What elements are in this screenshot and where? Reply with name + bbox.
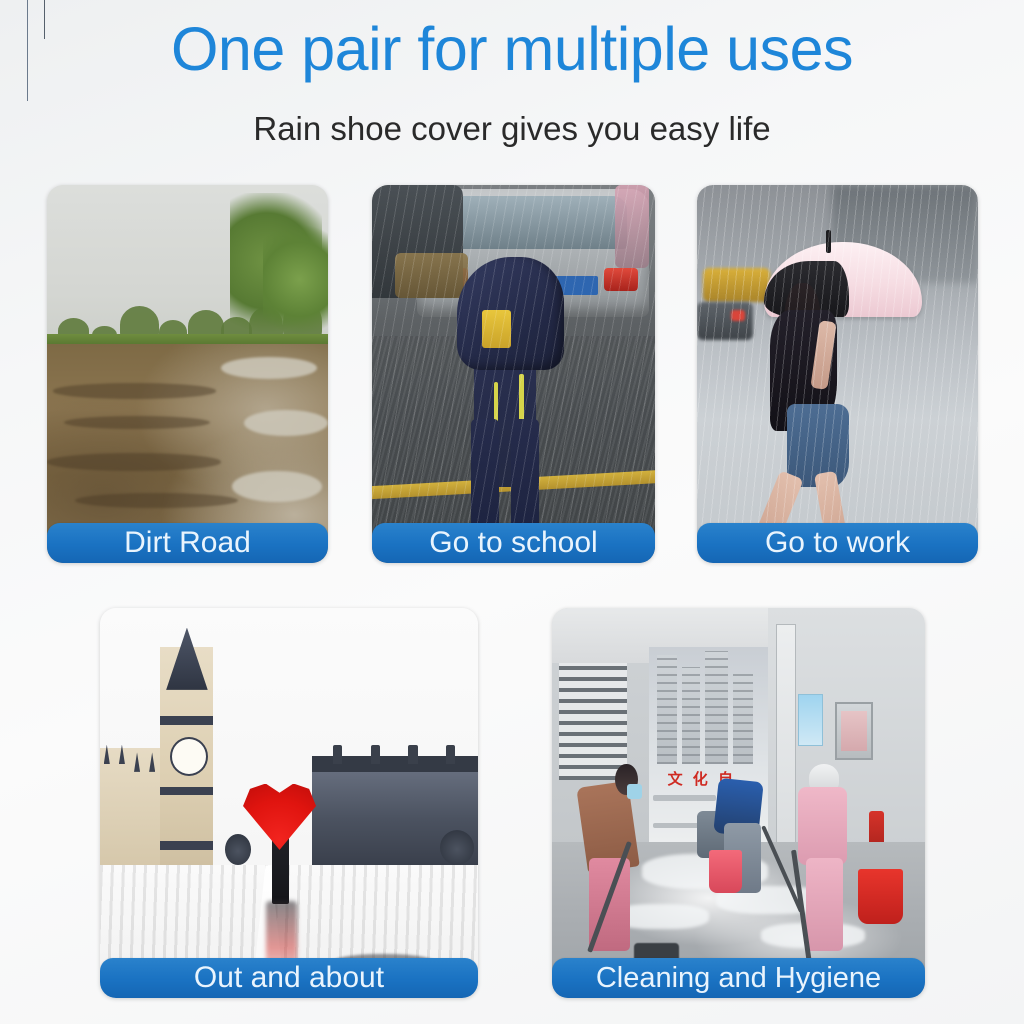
worker-3-top [798, 787, 846, 865]
photo-cleaning-and-hygiene: 文 化 自 [552, 608, 925, 998]
feature-card-cleaning-and-hygiene[interactable]: 文 化 自 [552, 608, 925, 998]
feature-card-out-and-about[interactable]: Out and about [100, 608, 478, 998]
card-label-go-to-school: Go to school [372, 523, 655, 563]
feature-card-dirt-road[interactable]: Dirt Road [47, 185, 328, 563]
rain-overlay [697, 185, 978, 563]
red-heart-umbrella [236, 784, 323, 850]
photo-out-and-about [100, 608, 478, 998]
card-label-go-to-work: Go to work [697, 523, 978, 563]
worker-1-face-mask [627, 784, 642, 800]
feature-card-go-to-school[interactable]: Go to school [372, 185, 655, 563]
red-bucket [858, 869, 903, 924]
wall-mounted-cabinet [835, 702, 873, 761]
photo-go-to-work [697, 185, 978, 563]
big-ben-clock-face [170, 737, 208, 776]
card-label-cleaning-and-hygiene: Cleaning and Hygiene [552, 958, 925, 998]
card-label-dirt-road: Dirt Road [47, 523, 328, 563]
rain-overlay [372, 185, 655, 563]
handrail-top [653, 795, 716, 801]
product-feature-poster: One pair for multiple uses Rain shoe cov… [0, 0, 1024, 1024]
tree-right-far [263, 215, 328, 344]
blue-notice-poster [798, 694, 822, 747]
card-label-out-and-about: Out and about [100, 958, 478, 998]
page-title: One pair for multiple uses [0, 14, 1024, 84]
page-subtitle: Rain shoe cover gives you easy life [0, 108, 1024, 150]
photo-dirt-road [47, 185, 328, 563]
glass-door [776, 624, 797, 852]
feature-card-go-to-work[interactable]: Go to work [697, 185, 978, 563]
photo-go-to-school [372, 185, 655, 563]
worker-3-pants [806, 858, 843, 952]
pink-bucket [709, 850, 743, 893]
